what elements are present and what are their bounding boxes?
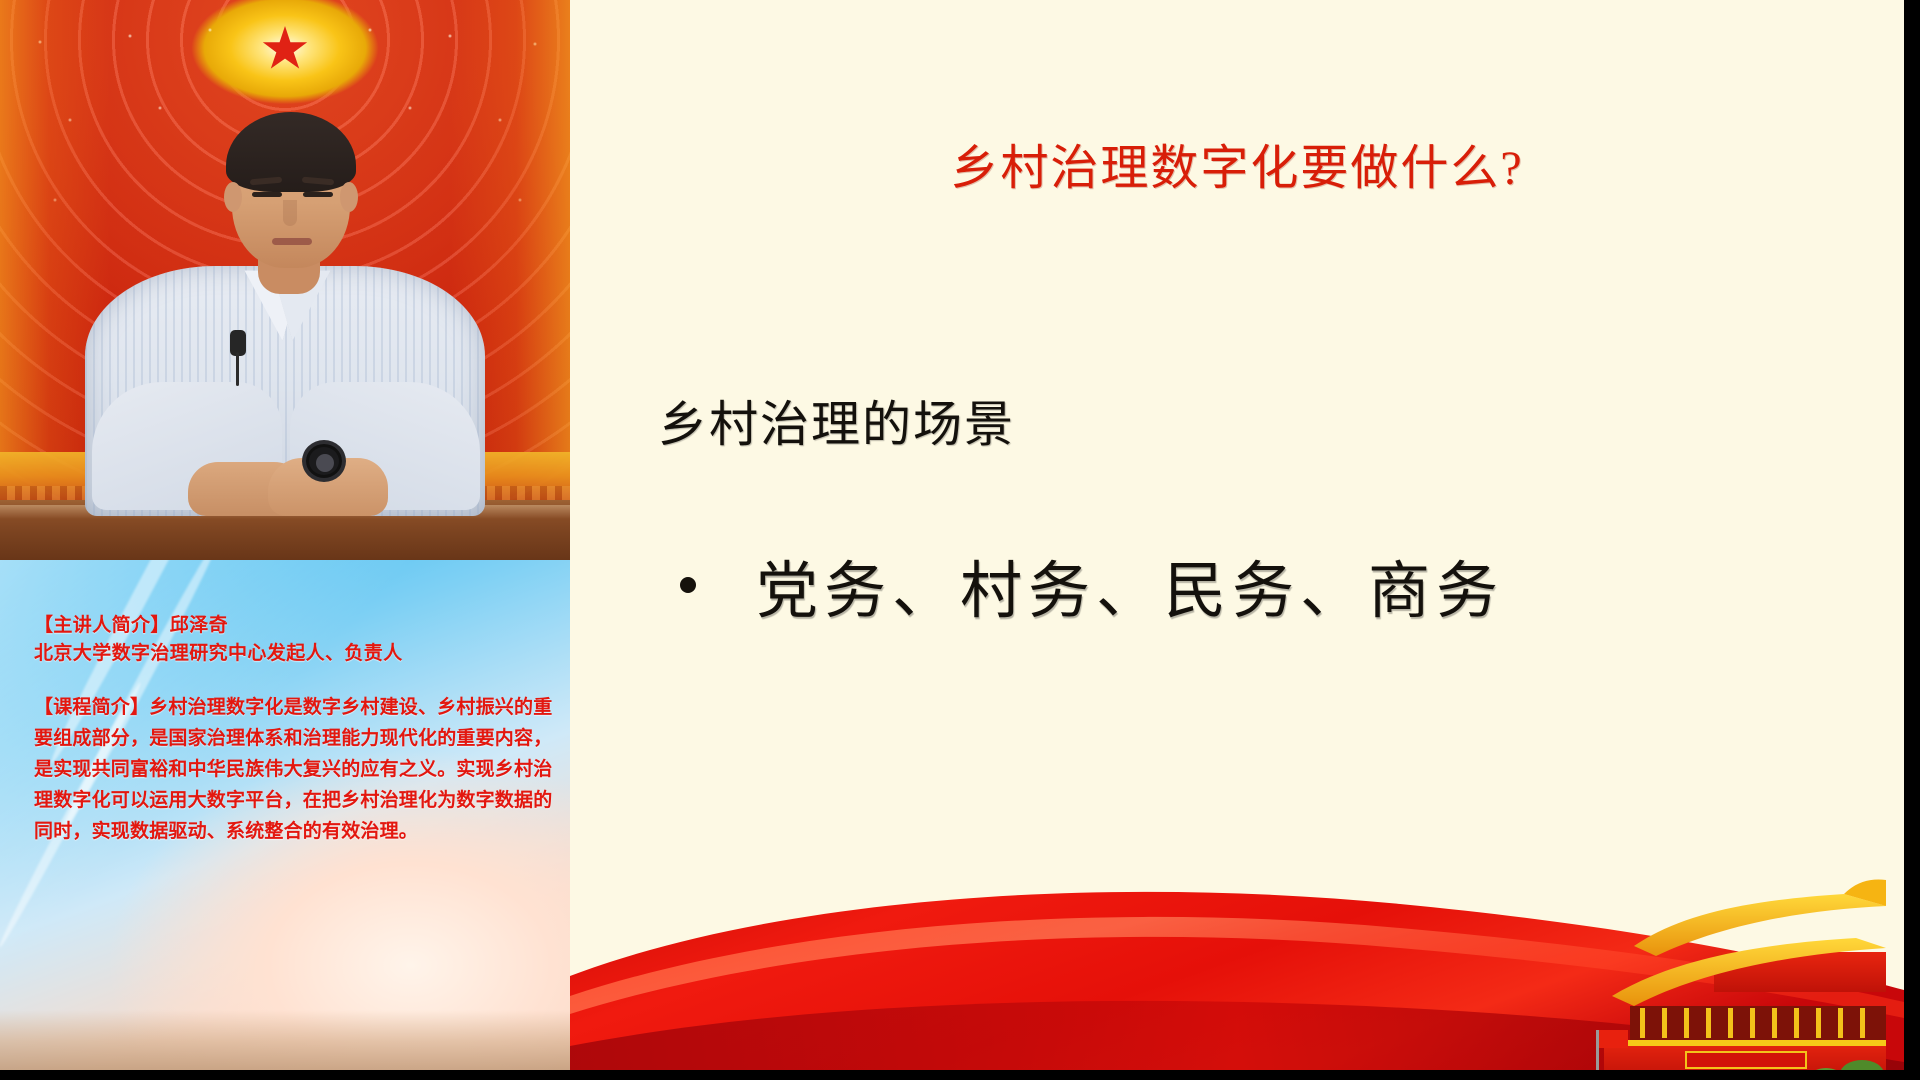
- microphone-wire: [236, 352, 239, 386]
- instructor-mouth: [272, 238, 312, 245]
- presentation-slide: 乡村治理数字化要做什么? 乡村治理的场景 党务、村务、民务、商务: [570, 0, 1904, 1080]
- instructor-nose: [283, 200, 297, 226]
- course-label: 【课程简介】: [34, 697, 149, 718]
- speaker-affiliation-line: 北京大学数字治理研究中心发起人、负责人: [34, 640, 554, 668]
- caption-spacer: [34, 667, 554, 693]
- speaker-name-line: 【主讲人简介】邱泽奇: [34, 612, 554, 640]
- letterbox-bar-bottom: [0, 1070, 1920, 1080]
- instructor-ear-right: [340, 182, 358, 212]
- instructor-hair: [226, 112, 356, 192]
- course-description-paragraph: 【课程简介】乡村治理数字化是数字乡村建设、乡村振兴的重要组成部分，是国家治理体系…: [34, 693, 554, 848]
- bullet-list-item: 党务、村务、民务、商务: [680, 540, 1830, 630]
- instructor-video-feed: 【主讲人简介】邱泽奇 北京大学数字治理研究中心发起人、负责人 【课程简介】乡村治…: [0, 0, 570, 1080]
- screen: 【主讲人简介】邱泽奇 北京大学数字治理研究中心发起人、负责人 【课程简介】乡村治…: [0, 0, 1920, 1080]
- instructor-eye-left: [252, 192, 282, 197]
- slide-title: 乡村治理数字化要做什么?: [570, 128, 1904, 198]
- tiananmen-gate-illustration: [1594, 860, 1894, 1080]
- slide-subheading: 乡村治理的场景: [658, 385, 1015, 456]
- bullet-item-text: 党务、村务、民务、商务: [756, 540, 1504, 630]
- instructor-ear-left: [224, 182, 242, 212]
- caption-text-block: 【主讲人简介】邱泽奇 北京大学数字治理研究中心发起人、负责人 【课程简介】乡村治…: [34, 612, 554, 848]
- instructor-eye-right: [303, 192, 333, 197]
- bullet-dot-icon: [680, 577, 696, 593]
- wristwatch-icon: [302, 440, 346, 482]
- instructor-figure: [0, 0, 570, 560]
- course-body: 乡村治理数字化是数字乡村建设、乡村振兴的重要组成部分，是国家治理体系和治理能力现…: [34, 697, 552, 842]
- letterbox-bar-right: [1904, 0, 1920, 1080]
- lower-third-caption-panel: 【主讲人简介】邱泽奇 北京大学数字治理研究中心发起人、负责人 【课程简介】乡村治…: [0, 560, 570, 1080]
